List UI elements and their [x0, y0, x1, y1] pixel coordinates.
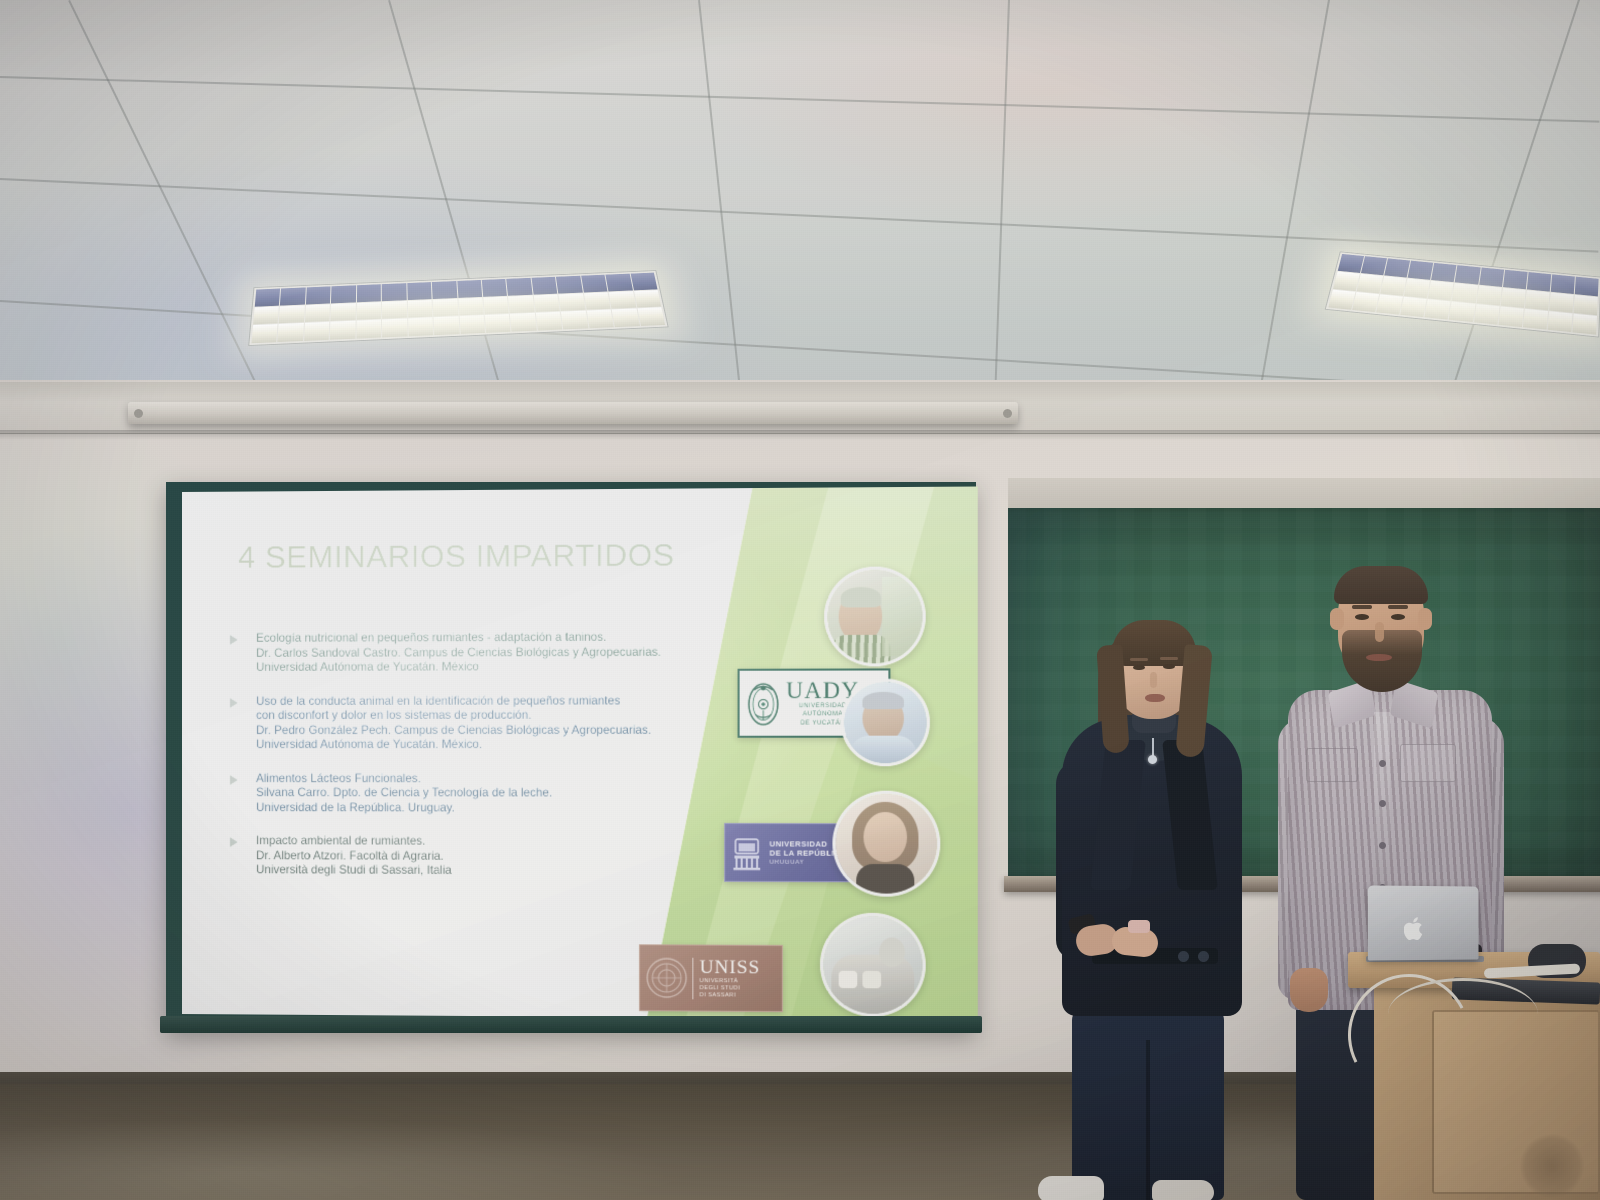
bullet-line: Universidad de la República. Uruguay. — [256, 801, 746, 816]
bullet-line: Dr. Pedro González Pech. Campus de Cienc… — [256, 723, 746, 738]
presenter-left-shoe — [1152, 1180, 1214, 1200]
slide-title: 4 SEMINARIOS IMPARTIDOS — [238, 537, 675, 576]
lecture-room-photo: 4 SEMINARIOS IMPARTIDOS Ecología nutrici… — [0, 0, 1600, 1200]
slide-canvas: 4 SEMINARIOS IMPARTIDOS Ecología nutrici… — [182, 486, 978, 1019]
projection-screen-roller-housing[interactable] — [128, 402, 1018, 424]
bullet-line: Impacto ambiental de rumiantes. — [256, 834, 746, 850]
udelar-crest-icon — [731, 834, 762, 871]
bullet-line: Ecología nutricional en pequeños rumiant… — [256, 630, 746, 646]
presenter-left-shoe — [1038, 1176, 1104, 1200]
triangle-bullet-icon — [230, 837, 238, 847]
triangle-bullet-icon — [230, 635, 238, 645]
logo-uniss: UNISS UNIVERSITÀ DEGLI STUDI DI SASSARI — [639, 944, 783, 1012]
photo-speaker-4 — [820, 913, 926, 1017]
logo-uniss-acronym: UNISS — [700, 957, 761, 978]
slide-bullet-item: Uso de la conducta animal en la identifi… — [218, 694, 746, 753]
photo-speaker-2 — [841, 679, 930, 767]
slide-bullet-item: Impacto ambiental de rumiantes. Dr. Albe… — [218, 834, 746, 879]
bullet-line: Alimentos Lácteos Funcionales. — [256, 772, 746, 787]
uady-crest-icon — [746, 680, 781, 727]
presenter-left-necklace — [1148, 755, 1157, 764]
apple-logo-icon — [1404, 916, 1426, 942]
slide-bullet-list: Ecología nutricional en pequeños rumiant… — [218, 630, 746, 898]
triangle-bullet-icon — [230, 775, 238, 785]
photo-speaker-1 — [824, 566, 926, 666]
projection-screen-weight-bar[interactable] — [160, 1016, 982, 1033]
slide-bullet-item: Alimentos Lácteos Funcionales. Silvana C… — [218, 772, 746, 816]
uniss-crest-icon — [645, 956, 688, 999]
bullet-line: Universidad Autónoma de Yucatán. México. — [256, 738, 746, 753]
ceiling — [0, 0, 1600, 430]
presenter-right-hand — [1290, 968, 1328, 1012]
bullet-line: Università degli Studi di Sassari, Itali… — [256, 863, 746, 879]
projected-slide: 4 SEMINARIOS IMPARTIDOS Ecología nutrici… — [182, 486, 978, 1019]
bullet-line: Dr. Alberto Atzori. Facoltà di Agraria. — [256, 849, 746, 865]
logo-uniss-line3: DI SASSARI — [700, 992, 761, 999]
soffit-shadow — [0, 430, 1600, 440]
podium-speaker-grille — [1520, 1134, 1584, 1198]
bullet-line: Uso de la conducta animal en la identifi… — [256, 694, 746, 709]
bullet-line: Dr. Carlos Sandoval Castro. Campus de Ci… — [256, 645, 746, 661]
bullet-line: con disconfort y dolor en los sistemas d… — [256, 708, 746, 723]
bullet-line: Silvana Carro. Dpto. de Ciencia y Tecnol… — [256, 786, 746, 801]
chalkboard-top-strip — [1008, 478, 1600, 510]
photo-speaker-3 — [832, 791, 940, 897]
slide-bullet-item: Ecología nutricional en pequeños rumiant… — [218, 630, 746, 675]
triangle-bullet-icon — [230, 697, 238, 707]
bullet-line: Universidad Autónoma de Yucatán. México — [256, 660, 746, 676]
presenter-left-watch — [1128, 920, 1150, 933]
